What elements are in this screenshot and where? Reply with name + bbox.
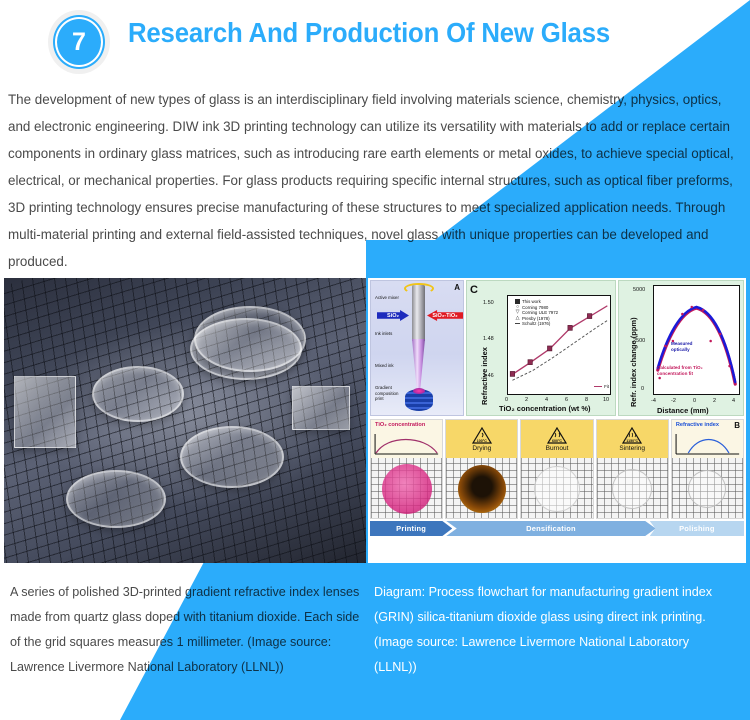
- panel-d-xtick: 0: [693, 398, 696, 404]
- panel-a-printing-diagram: A SiO₂ SiO₂-TiO₂ Active mixer Ink inlets…: [370, 280, 464, 416]
- flow-image-dried-part: [446, 458, 517, 519]
- flow-head-burnout: 600°C Burnout: [521, 420, 592, 458]
- legend-item: Schultz (1976): [515, 321, 573, 327]
- open-up-triangle-icon: △: [515, 316, 520, 321]
- panel-c-ytick: 1.50: [483, 300, 494, 306]
- panel-d-y-axis-label: Refr. index change (ppm): [629, 317, 638, 407]
- panel-d-xtick: 4: [732, 398, 735, 404]
- flow-steps-row: TiO₂ concentration: [370, 419, 744, 519]
- process-stage-arrow-bar: Printing Densification Polishing: [370, 521, 744, 536]
- intro-paragraph: The development of new types of glass is…: [8, 86, 744, 275]
- section-number-badge: 7: [48, 10, 110, 74]
- panel-c-letter: C: [470, 284, 478, 296]
- sio2-ink-arrow: SiO₂: [377, 310, 409, 321]
- flow-label-burnout: Burnout: [546, 445, 569, 452]
- dried-brown-disc: [458, 465, 506, 513]
- panel-c-x-axis-label: TiO₂ concentration (wt %): [499, 404, 591, 413]
- clear-disc: [612, 469, 652, 509]
- panel-d-annotation-measured: Measured optically: [671, 341, 711, 352]
- panel-b-letter: B: [734, 421, 740, 430]
- flow-step-sintering: 1150°C Sintering: [596, 419, 669, 519]
- dashed-line-icon: [515, 323, 520, 324]
- glass-block: [292, 386, 350, 430]
- gradient-print-core-icon: [413, 388, 425, 394]
- sio2-tio2-ink-arrow: SiO₂-TiO₂: [427, 310, 463, 321]
- panel-c-xtick: 8: [585, 397, 588, 403]
- panel-d-xtick: 2: [713, 398, 716, 404]
- media-row: A SiO₂ SiO₂-TiO₂ Active mixer Ink inlets…: [0, 278, 750, 563]
- panel-d-x-axis-label: Distance (mm): [657, 406, 709, 415]
- panel-d-ytick: 0: [641, 386, 644, 392]
- panel-b-process-flowchart: TiO₂ concentration: [370, 419, 744, 561]
- mini-chart-title-tio2: TiO₂ concentration: [375, 422, 425, 428]
- panel-c-plot-area: C Refractive index TiO₂ concentration (w…: [469, 283, 613, 413]
- heat-warning-icon: 600°C: [547, 427, 567, 444]
- panel-c-legend: This work ○Corning 7980 ▽Corning ULE 797…: [515, 299, 573, 327]
- panel-d-axes: [653, 285, 740, 395]
- panel-d-xtick: -4: [651, 398, 656, 404]
- label-active-mixer: Active mixer: [375, 295, 401, 301]
- legend-item-fit: Fit: [594, 384, 609, 390]
- flow-step-polishing: B Refractive index: [671, 419, 744, 519]
- flow-image-sintered-part: [597, 458, 668, 519]
- lens-disc: [66, 470, 166, 528]
- flow-image-printed-part: [371, 458, 442, 519]
- flow-image-polished-part: [672, 458, 743, 519]
- panel-c-ytick: 1.46: [483, 373, 494, 379]
- label-gradient-print: Gradient composition print: [375, 385, 401, 402]
- page-title: Research And Production Of New Glass: [128, 17, 610, 49]
- label-mixed-ink: Mixed ink: [375, 363, 401, 369]
- heat-warning-icon: 100°C: [472, 427, 492, 444]
- panel-d-xtick: -2: [671, 398, 676, 404]
- panel-d-annotation-calculated: Calculated from TiO₂ concentration fit: [657, 365, 719, 376]
- sintering-temperature: 1150°C: [622, 439, 642, 443]
- flow-head-drying: 100°C Drying: [446, 420, 517, 458]
- panel-d-svg: [654, 286, 739, 394]
- panel-c-xtick: 10: [603, 397, 609, 403]
- nozzle-cone-icon: [412, 339, 425, 391]
- panel-c-xtick: 6: [565, 397, 568, 403]
- heat-warning-icon: 1150°C: [622, 427, 642, 444]
- label-ink-inlets: Ink inlets: [375, 331, 401, 337]
- glass-block: [14, 376, 76, 448]
- panel-c-xtick: 0: [505, 397, 508, 403]
- flow-image-burnout-part: [521, 458, 592, 519]
- panel-c-ytick: 1.48: [483, 336, 494, 342]
- flow-head-sintering: 1150°C Sintering: [597, 420, 668, 458]
- panel-a-letter: A: [454, 283, 460, 292]
- burnout-temperature: 600°C: [547, 439, 567, 443]
- glass-lenses-photo: [4, 278, 366, 563]
- section-header: 7 Research And Production Of New Glass: [0, 0, 750, 78]
- panel-c-xtick: 4: [545, 397, 548, 403]
- flow-label-drying: Drying: [472, 445, 491, 452]
- mixer-nozzle-icon: [412, 285, 425, 341]
- stage-polishing: Polishing: [650, 521, 744, 536]
- panel-c-xtick: 2: [525, 397, 528, 403]
- panel-d-index-change-chart: Refr. index change (ppm) Distance (mm) 5…: [618, 280, 744, 416]
- polished-disc: [688, 470, 726, 508]
- flow-head-tio2-concentration: TiO₂ concentration: [371, 420, 442, 458]
- translucent-disc: [534, 466, 580, 512]
- figure-top-row: A SiO₂ SiO₂-TiO₂ Active mixer Ink inlets…: [370, 280, 744, 416]
- printed-pink-disc: [382, 464, 432, 514]
- flow-label-sintering: Sintering: [619, 445, 645, 452]
- mini-chart-title-refractive-index: Refractive index: [676, 422, 719, 428]
- panel-d-ytick: 5000: [633, 287, 645, 293]
- flow-step-drying: 100°C Drying: [445, 419, 518, 519]
- drying-temperature: 100°C: [472, 439, 492, 443]
- process-figure: A SiO₂ SiO₂-TiO₂ Active mixer Ink inlets…: [368, 278, 746, 563]
- lens-disc: [190, 318, 302, 380]
- flow-head-refractive-index: B Refractive index: [672, 420, 743, 458]
- solid-line-icon: [594, 386, 602, 387]
- mini-curve-refractive-index: [672, 431, 743, 457]
- stage-densification: Densification: [446, 521, 655, 536]
- mini-curve-tio2: [371, 431, 442, 457]
- section-number-badge-label: 7: [55, 17, 103, 67]
- flow-step-printing: TiO₂ concentration: [370, 419, 443, 519]
- lens-disc: [180, 426, 284, 488]
- caption-left-photo: A series of polished 3D-printed gradient…: [10, 580, 360, 680]
- lens-disc: [92, 366, 184, 422]
- caption-right-diagram: Diagram: Process flowchart for manufactu…: [374, 580, 726, 680]
- panel-c-refractive-index-chart: C Refractive index TiO₂ concentration (w…: [466, 280, 616, 416]
- flow-step-burnout: 600°C Burnout: [520, 419, 593, 519]
- panel-d-ytick: 2500: [633, 338, 645, 344]
- stage-printing: Printing: [370, 521, 452, 536]
